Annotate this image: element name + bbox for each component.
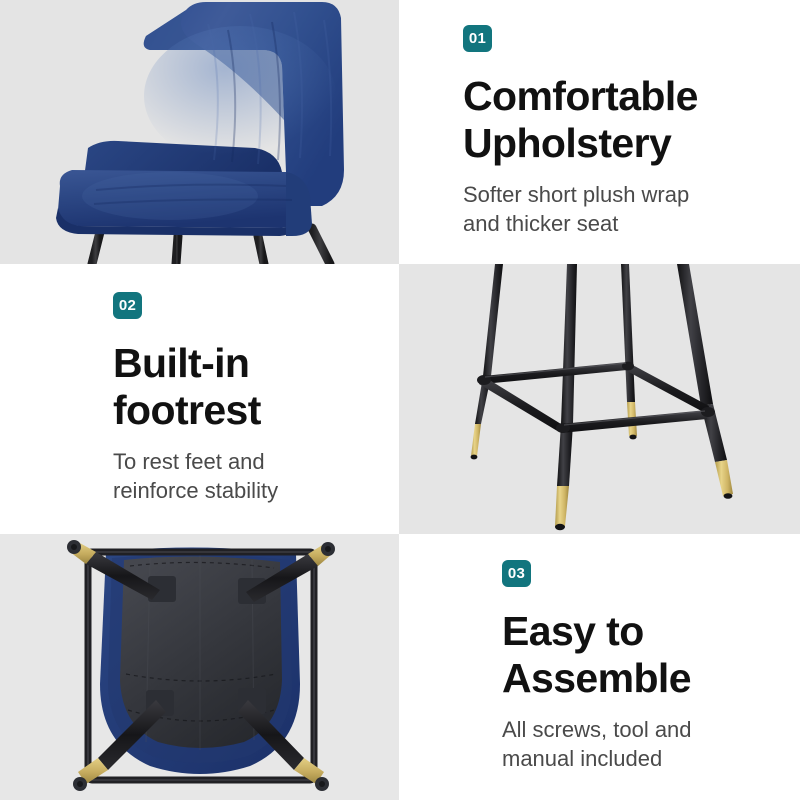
feature-panel-02: 02 Built-in footrest To rest feet and re… [0,264,399,534]
feature-badge-02: 02 [113,292,142,319]
chair-illustration [0,0,399,264]
feature-title-01: Comfortable Upholstery [463,73,800,166]
feature-title-02: Built-in footrest [113,340,399,433]
feature-description-02: To rest feet and reinforce stability [113,447,399,506]
footrest-illustration [399,264,800,534]
feature-panel-03: 03 Easy to Assemble All screws, tool and… [399,534,800,800]
product-feature-infographic: 01 Comfortable Upholstery Softer short p… [0,0,800,800]
feature-panel-01: 01 Comfortable Upholstery Softer short p… [399,0,800,264]
photo-chair-underside [0,534,399,800]
feature-description-03: All screws, tool and manual included [502,715,800,774]
feature-badge-03: 03 [502,560,531,587]
photo-footrest-ring-detail [399,264,800,534]
feature-badge-01: 01 [463,25,492,52]
underside-illustration [0,534,399,800]
feature-description-01: Softer short plush wrap and thicker seat [463,180,800,239]
photo-blue-velvet-chair-seat [0,0,399,264]
feature-title-03: Easy to Assemble [502,608,800,701]
